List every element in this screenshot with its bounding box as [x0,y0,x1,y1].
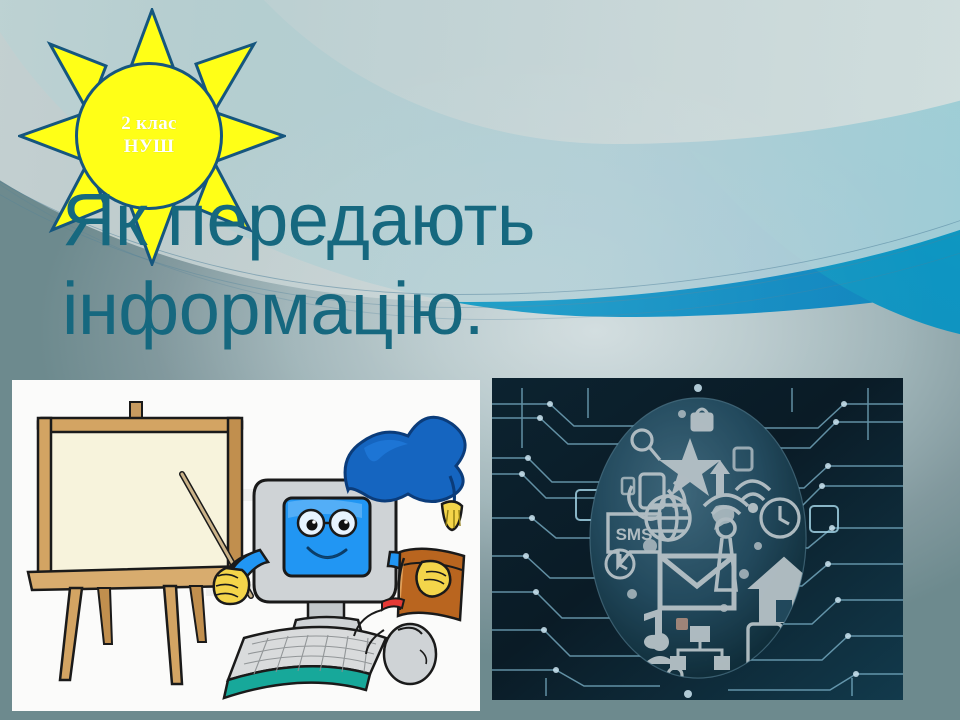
glove-left [214,568,249,604]
sun-badge-line-2: НУШ [124,137,175,158]
global-network-illustration: SMS [492,378,903,700]
slide-title: Як передають інформацію. [62,176,722,354]
sun-badge-line-1: 2 клас [121,114,177,135]
glove-right [416,561,450,597]
computer-teacher-illustration [12,380,480,711]
presentation-slide: 2 клас НУШ Як передають інформацію. [0,0,960,720]
picture-global-network: SMS [492,378,903,700]
picture-computer-teacher [12,380,480,711]
